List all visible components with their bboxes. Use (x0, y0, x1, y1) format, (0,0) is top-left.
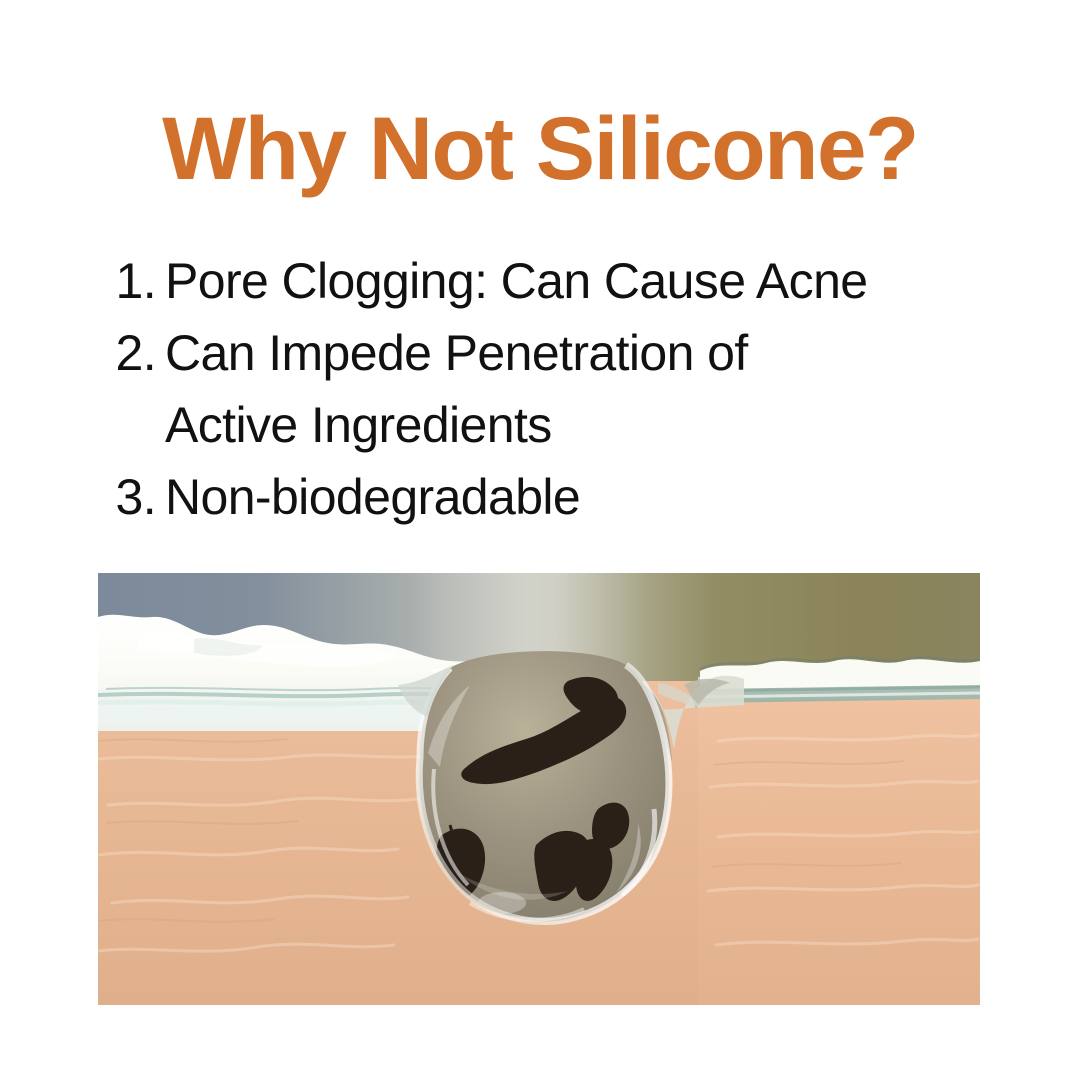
list-item-label: Non-biodegradable (165, 461, 998, 533)
poster-root: Why Not Silicone? 1. Pore Clogging: Can … (0, 0, 1080, 1080)
list-item-label: Can Impede Penetration of (165, 317, 998, 389)
list-item-label: Active Ingredients (165, 389, 998, 461)
list-item: 1. Pore Clogging: Can Cause Acne (98, 245, 998, 317)
list-item-number: 1. (98, 245, 165, 317)
list-item-number: 2. (98, 317, 165, 389)
list-item-label: Pore Clogging: Can Cause Acne (165, 245, 998, 317)
silicone-film-illustration (98, 573, 980, 1005)
list-item-continuation: Active Ingredients (98, 389, 998, 461)
list-item: 2. Can Impede Penetration of (98, 317, 998, 389)
list-item-number: 3. (98, 461, 165, 533)
reasons-list: 1. Pore Clogging: Can Cause Acne 2. Can … (98, 245, 998, 533)
page-title: Why Not Silicone? (0, 104, 1080, 193)
silicone-film-illustration-svg (98, 573, 980, 1005)
list-item: 3. Non-biodegradable (98, 461, 998, 533)
clogged-pore (419, 651, 669, 921)
